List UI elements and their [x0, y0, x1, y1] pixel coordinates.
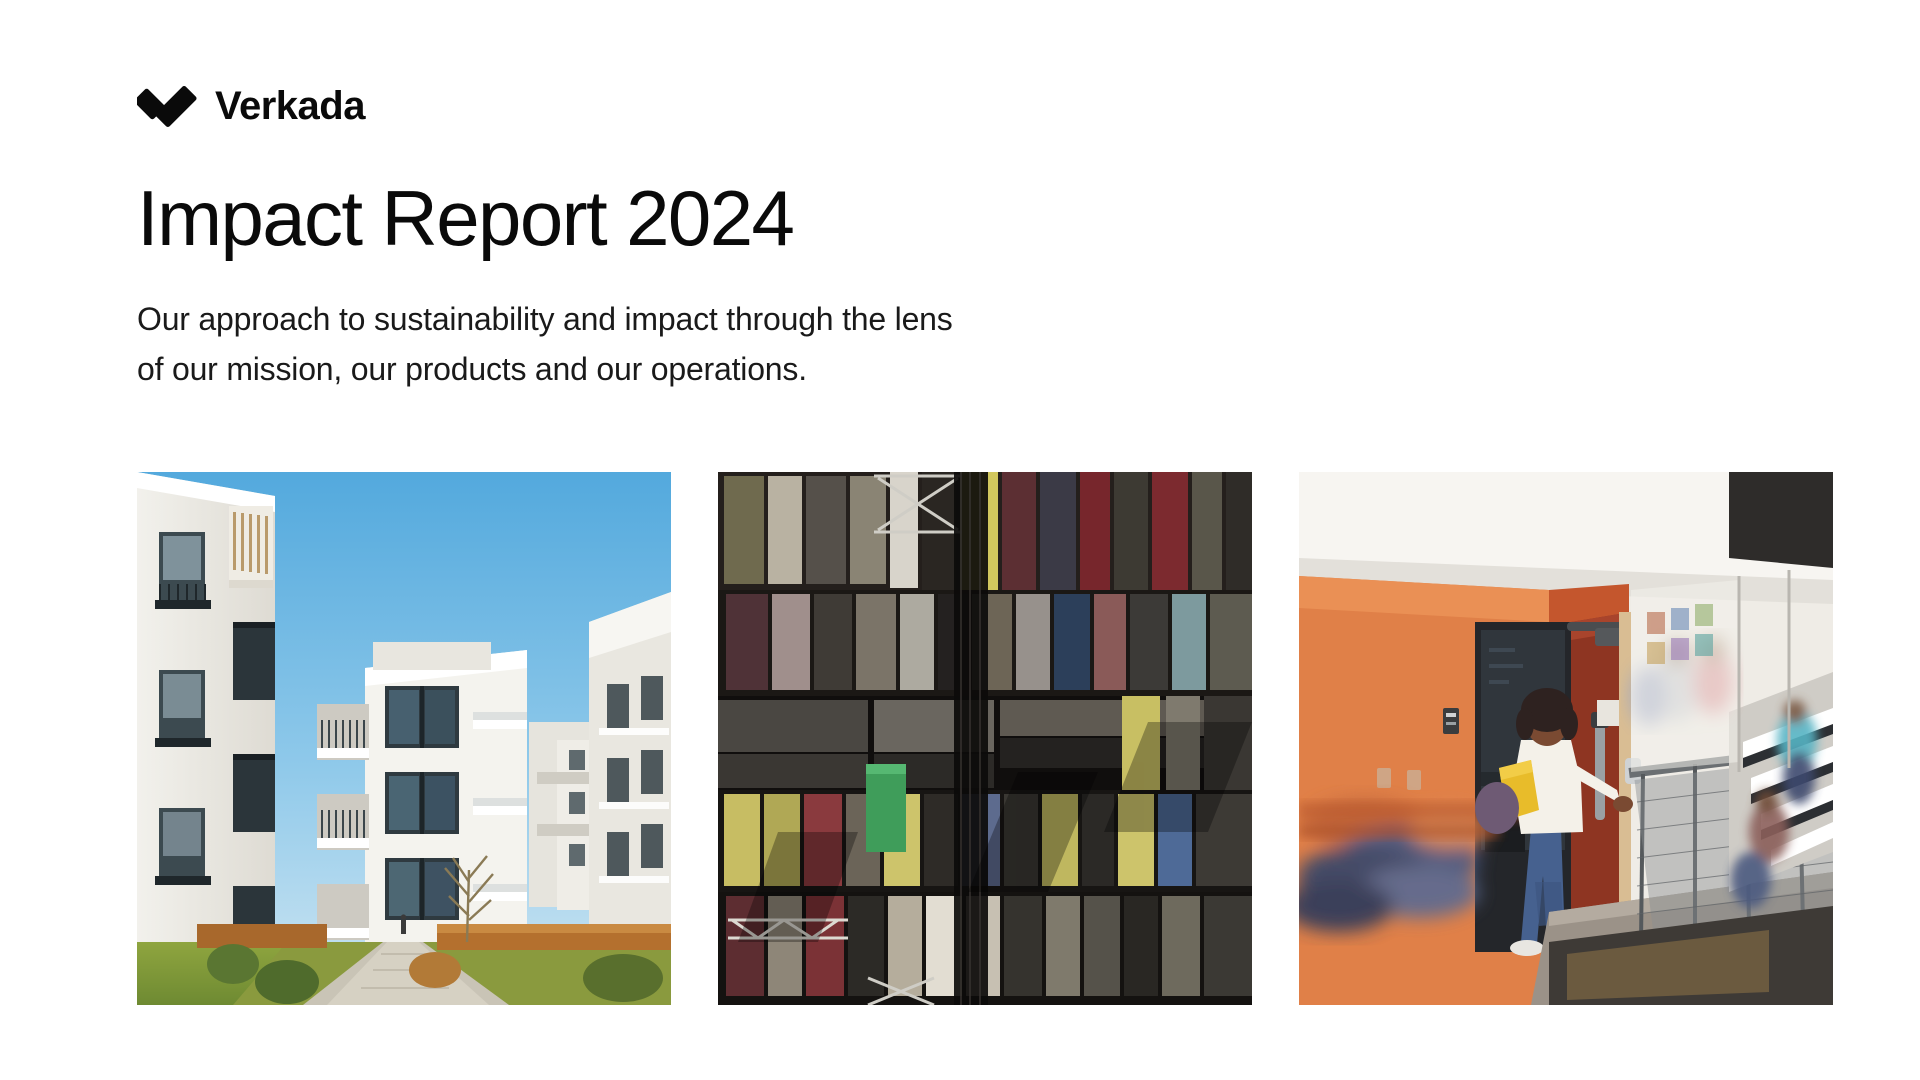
page-title: Impact Report 2024	[137, 178, 793, 259]
gallery-image-residential-courtyard	[137, 472, 671, 1005]
page-subtitle: Our approach to sustainability and impac…	[137, 295, 953, 395]
gallery-image-container-facade	[718, 472, 1252, 1005]
brand-wordmark: Verkada	[215, 86, 365, 126]
brand-logo[interactable]: Verkada	[137, 82, 365, 130]
hero-image-gallery	[137, 472, 1833, 1005]
impact-report-cover-page: Verkada Impact Report 2024 Our approach …	[0, 0, 1920, 1080]
gallery-image-school-corridor	[1299, 472, 1833, 1005]
verkada-checkmark-icon	[137, 82, 197, 130]
subtitle-line-1: Our approach to sustainability and impac…	[137, 295, 953, 345]
subtitle-line-2: of our mission, our products and our ope…	[137, 345, 953, 395]
